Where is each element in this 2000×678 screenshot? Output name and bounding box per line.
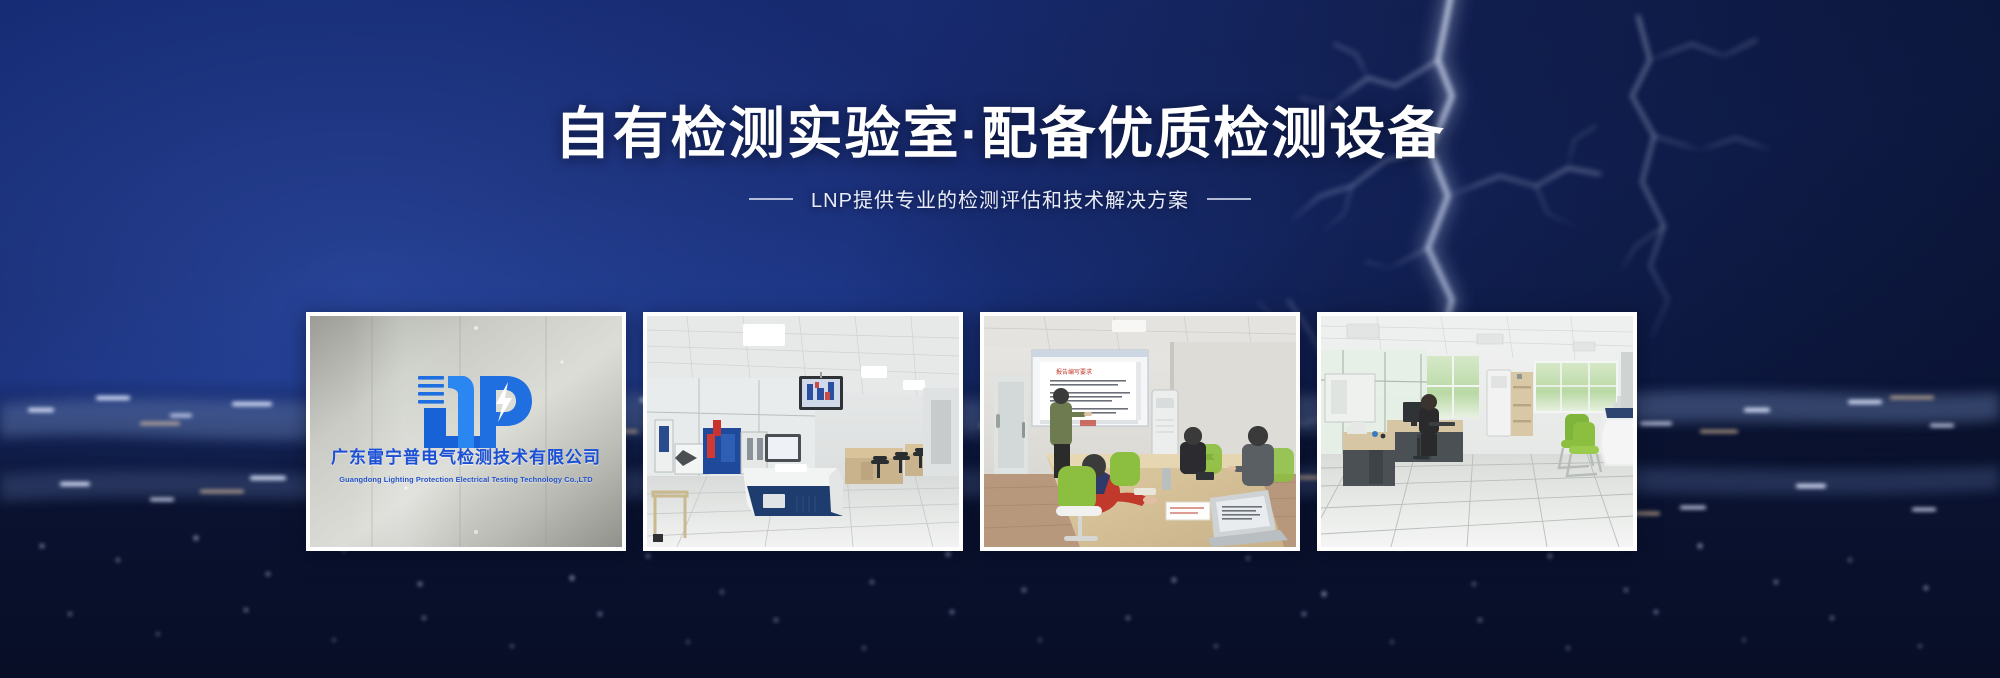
gallery-item-testing-laboratory[interactable]	[643, 312, 963, 551]
page-subtitle: LNP提供专业的检测评估和技术解决方案	[811, 184, 1189, 213]
logo-wall-illustration	[310, 316, 622, 547]
gallery-item-company-logo-wall[interactable]: 广东雷宁普电气检测技术有限公司 Guangdong Lighting Prote…	[306, 312, 626, 551]
left-rule-decoration	[749, 198, 793, 200]
gallery-item-office-area[interactable]	[1317, 312, 1637, 551]
photo-testing-laboratory	[647, 316, 959, 547]
laboratory-illustration	[647, 316, 959, 547]
logo-wall-company-name-cn: 广东雷宁普电气检测技术有限公司	[310, 443, 622, 468]
photo-gallery: 广东雷宁普电气检测技术有限公司 Guangdong Lighting Prote…	[306, 312, 1637, 551]
meeting-room-illustration: 报告编写要求	[984, 316, 1296, 547]
page-title: 自有检测实验室·配备优质检测设备	[0, 104, 2000, 164]
office-area-illustration	[1321, 316, 1633, 547]
gallery-item-training-meeting-room[interactable]: 报告编写要求	[980, 312, 1300, 551]
logo-wall-company-name-en: Guangdong Lighting Protection Electrical…	[310, 475, 622, 484]
banner-copy: 自有检测实验室·配备优质检测设备 LNP提供专业的检测评估和技术解决方案	[0, 104, 2000, 213]
photo-office-area	[1321, 316, 1633, 547]
svg-text:报告编写要求: 报告编写要求	[1056, 368, 1092, 376]
photo-training-meeting-room: 报告编写要求	[984, 316, 1296, 547]
photo-company-logo-wall: 广东雷宁普电气检测技术有限公司 Guangdong Lighting Prote…	[310, 316, 622, 547]
right-rule-decoration	[1207, 198, 1251, 200]
subtitle-row: LNP提供专业的检测评估和技术解决方案	[0, 184, 2000, 213]
hero-banner: 自有检测实验室·配备优质检测设备 LNP提供专业的检测评估和技术解决方案	[0, 0, 2000, 678]
